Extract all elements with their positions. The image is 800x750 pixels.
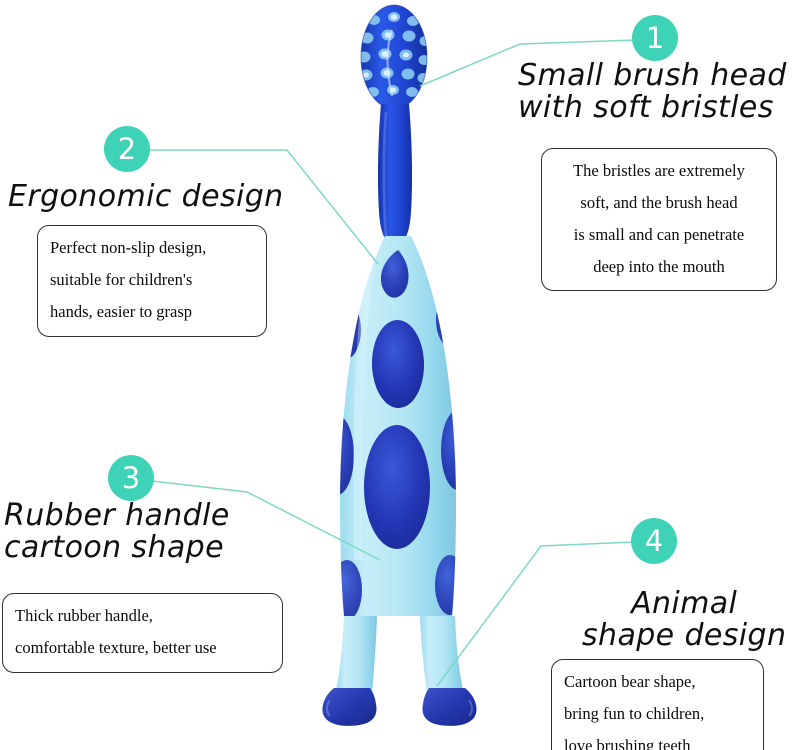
description-line: is small and can penetrate (554, 219, 764, 251)
description-line: hands, easier to grasp (50, 296, 254, 328)
callout-description-1: The bristles are extremely soft, and the… (541, 148, 777, 291)
callout-description-2: Perfect non-slip design, suitable for ch… (37, 225, 267, 337)
callout-heading-4: Animal shape design (582, 588, 786, 653)
infographic-canvas: 1 2 3 4 Small brush head with soft brist… (0, 0, 800, 750)
callout-badge-3: 3 (108, 455, 154, 501)
callout-heading-3: Rubber handle cartoon shape (4, 500, 230, 565)
callout-heading-1: Small brush head with soft bristles (518, 60, 787, 125)
callout-badge-4: 4 (631, 518, 677, 564)
description-line: comfortable texture, better use (15, 632, 270, 664)
description-line: The bristles are extremely (554, 155, 764, 187)
description-line: Cartoon bear shape, (564, 666, 751, 698)
description-line: Thick rubber handle, (15, 600, 270, 632)
description-line: deep into the mouth (554, 251, 764, 283)
description-line: Perfect non-slip design, (50, 232, 254, 264)
callout-badge-1: 1 (632, 15, 678, 61)
description-line: bring fun to children, (564, 698, 751, 730)
description-line: suitable for children's (50, 264, 254, 296)
description-line: soft, and the brush head (554, 187, 764, 219)
callout-description-3: Thick rubber handle, comfortable texture… (2, 593, 283, 673)
callout-badge-2: 2 (104, 126, 150, 172)
callout-heading-2: Ergonomic design (8, 181, 284, 213)
description-line: love brushing teeth (564, 730, 751, 750)
callout-description-4: Cartoon bear shape, bring fun to childre… (551, 659, 764, 750)
